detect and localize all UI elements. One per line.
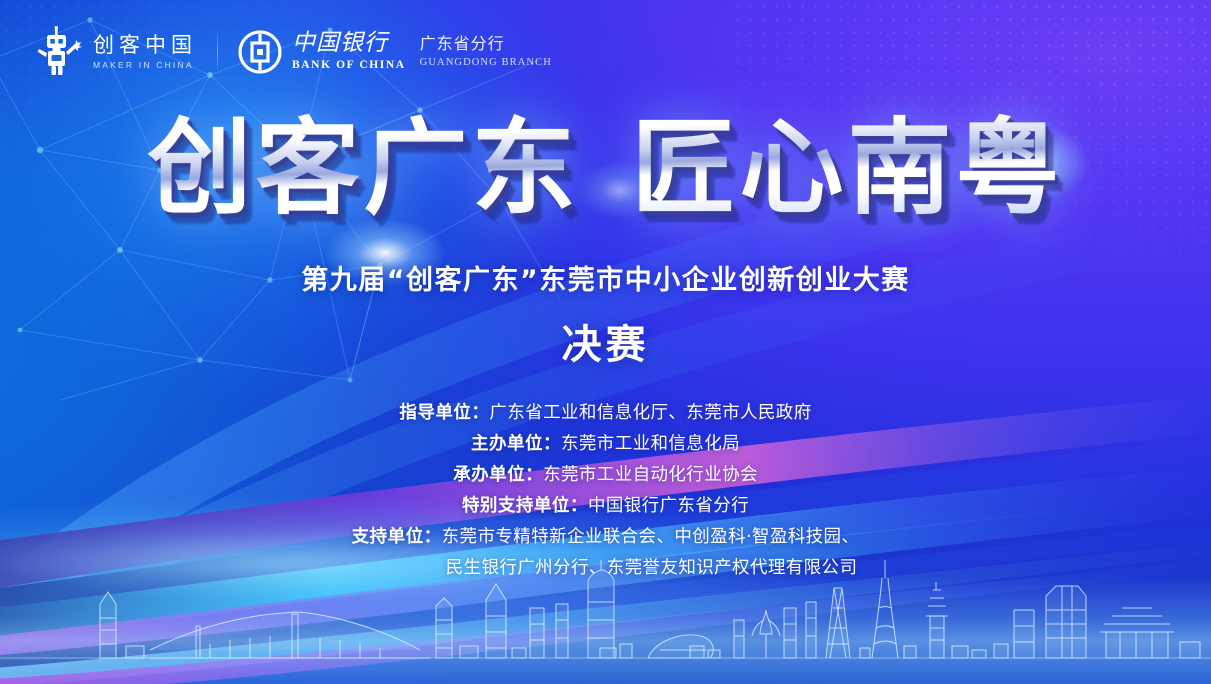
robot-mascot-icon: [36, 26, 84, 78]
event-stage-label: 决赛: [0, 312, 1211, 370]
credit-row: 主办单位： 东莞市工业和信息化局: [0, 429, 1211, 460]
credit-row: 特别支持单位： 中国银行广东省分行: [0, 491, 1211, 522]
credits-block: 指导单位： 广东省工业和信息化厅、东莞市人民政府 主办单位： 东莞市工业和信息化…: [0, 398, 1211, 584]
maker-in-china-en: MAKER IN CHINA: [93, 61, 197, 70]
boc-branch-en: GUANGDONG BRANCH: [420, 58, 552, 69]
boc-branch-cn: 广东省分行: [420, 36, 552, 52]
main-title-left: 创客广东: [147, 107, 579, 229]
maker-in-china-logo: 创客中国 MAKER IN CHINA: [36, 26, 197, 78]
bank-of-china-cn: 中国银行: [292, 32, 406, 55]
logo-divider: [217, 30, 218, 74]
credit-value: 东莞市专精特新企业联合会、中创盈科·智盈科技园、: [442, 522, 860, 553]
credit-row-continuation: 民生银行广州分行、东莞誉友知识产权代理有限公司: [0, 553, 1211, 584]
credit-label: 支持单位：: [352, 522, 442, 553]
main-title-right: 匠心南粤: [632, 107, 1064, 229]
sponsor-logo-bar: 创客中国 MAKER IN CHINA 中国银行 BANK OF CHINA 广…: [36, 26, 552, 78]
poster-canvas: 创客中国 MAKER IN CHINA 中国银行 BANK OF CHINA 广…: [0, 0, 1211, 684]
credit-label: 特别支持单位：: [462, 491, 588, 522]
credit-value: 民生银行广州分行、东莞誉友知识产权代理有限公司: [446, 553, 858, 584]
bank-of-china-en: BANK OF CHINA: [292, 60, 406, 72]
credit-value: 广东省工业和信息化厅、东莞市人民政府: [489, 398, 811, 429]
credit-label: 承办单位：: [453, 460, 543, 491]
credit-row: 指导单位： 广东省工业和信息化厅、东莞市人民政府: [0, 398, 1211, 429]
maker-in-china-cn: 创客中国: [93, 35, 197, 56]
credit-row: 支持单位： 东莞市专精特新企业联合会、中创盈科·智盈科技园、: [0, 522, 1211, 553]
credit-value: 东莞市工业和信息化局: [561, 429, 740, 460]
bank-of-china-logo: 中国银行 BANK OF CHINA 广东省分行 GUANGDONG BRANC…: [238, 30, 552, 74]
credit-row: 承办单位： 东莞市工业自动化行业协会: [0, 460, 1211, 491]
credit-label: 指导单位：: [399, 398, 489, 429]
event-subtitle: 第九届“创客广东”东莞市中小企业创新创业大赛: [0, 258, 1211, 297]
credit-value: 东莞市工业自动化行业协会: [543, 460, 758, 491]
credit-value: 中国银行广东省分行: [588, 491, 749, 522]
main-title: 创客广东匠心南粤: [0, 112, 1211, 224]
bank-of-china-emblem-icon: [238, 30, 282, 74]
credit-label: 主办单位：: [471, 429, 561, 460]
